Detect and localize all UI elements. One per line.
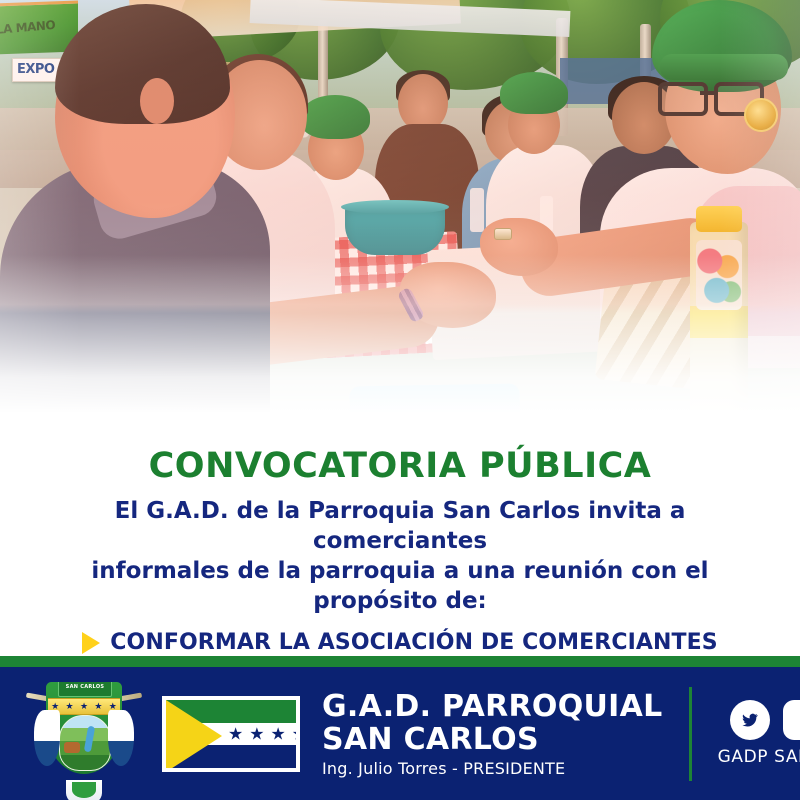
flag-yellow-triangle xyxy=(166,700,222,768)
green-chef-cap-icon xyxy=(300,95,370,139)
crest-river xyxy=(84,725,95,752)
social-icons-row xyxy=(718,700,800,740)
flag-star-icon: ★ xyxy=(249,725,264,742)
thermos-graphics xyxy=(696,240,742,310)
flag-star-group: ★ ★ ★ ★ xyxy=(228,725,296,742)
footer-bar: SAN CARLOS ★ ★ ★ ★ ★ xyxy=(0,667,800,800)
announcement-body: El G.A.D. de la Parroquia San Carlos inv… xyxy=(50,496,750,616)
social-block: GADP SAN CARLOS xyxy=(718,700,800,767)
crest-top-banner: SAN CARLOS xyxy=(58,682,112,697)
organization-name-line-1: G.A.D. PARROQUIAL xyxy=(322,690,663,723)
crest-star-icon: ★ xyxy=(80,702,88,711)
crest-wreath-right xyxy=(108,710,134,766)
eyeglass-lens-left xyxy=(658,82,708,116)
photo-scene: LA MANO EXPO NOT. xyxy=(0,0,800,435)
bottle xyxy=(470,188,484,232)
announcement-body-line-1: El G.A.D. de la Parroquia San Carlos inv… xyxy=(50,496,750,556)
president-name: Ing. Julio Torres - PRESIDENTE xyxy=(322,759,663,778)
announcement-body-line-2: informales de la parroquia a una reunión… xyxy=(50,556,750,616)
crest-top-banner-text: SAN CARLOS xyxy=(59,682,111,694)
parish-flag-field: ★ ★ ★ ★ xyxy=(166,700,296,768)
social-handle: GADP SAN CARLOS xyxy=(718,747,800,767)
crest-wreath-left xyxy=(34,710,60,766)
crest-tail-accent xyxy=(72,782,96,798)
header-photo: LA MANO EXPO NOT. xyxy=(0,0,800,435)
page-title: CONVOCATORIA PÚBLICA xyxy=(0,446,800,486)
expo-sign-text: EXPO xyxy=(17,62,54,77)
crest-star-icon: ★ xyxy=(94,702,102,711)
organization-identity: G.A.D. PARROQUIAL SAN CARLOS Ing. Julio … xyxy=(322,690,663,778)
customer-man-ear xyxy=(140,78,174,124)
blue-bin xyxy=(349,384,520,435)
green-divider-stripe xyxy=(0,656,800,667)
youtube-icon[interactable] xyxy=(783,700,800,740)
crest-cattle xyxy=(64,742,80,753)
crest-star-icon: ★ xyxy=(66,702,74,711)
footer-vertical-divider xyxy=(689,687,692,781)
green-banner-sign-text: LA MANO xyxy=(0,18,55,37)
flag-star-icon: ★ xyxy=(228,725,243,742)
twitter-icon[interactable] xyxy=(730,700,770,740)
green-chef-cap-icon xyxy=(500,72,568,114)
flag-star-icon: ★ xyxy=(292,725,296,742)
earring-icon xyxy=(744,98,778,132)
triangle-bullet-icon xyxy=(82,632,100,654)
parish-flag-icon: ★ ★ ★ ★ xyxy=(162,696,300,772)
thermos-lid xyxy=(696,206,742,232)
teal-basin-rim xyxy=(341,200,449,214)
green-chef-cap-band xyxy=(660,54,788,80)
purpose-text: CONFORMAR LA ASOCIACIÓN DE COMERCIANTES xyxy=(110,630,717,655)
purpose-row: CONFORMAR LA ASOCIACIÓN DE COMERCIANTES xyxy=(0,630,800,655)
crest-landscape-scene xyxy=(59,715,111,771)
announcement-content: CONVOCATORIA PÚBLICA El G.A.D. de la Par… xyxy=(0,430,800,656)
organization-name-line-2: SAN CARLOS xyxy=(322,723,663,756)
flag-star-icon: ★ xyxy=(271,725,286,742)
coat-of-arms-icon: SAN CARLOS ★ ★ ★ ★ ★ xyxy=(32,674,136,794)
finger-ring xyxy=(494,228,512,240)
poster-root: LA MANO EXPO NOT. xyxy=(0,0,800,800)
